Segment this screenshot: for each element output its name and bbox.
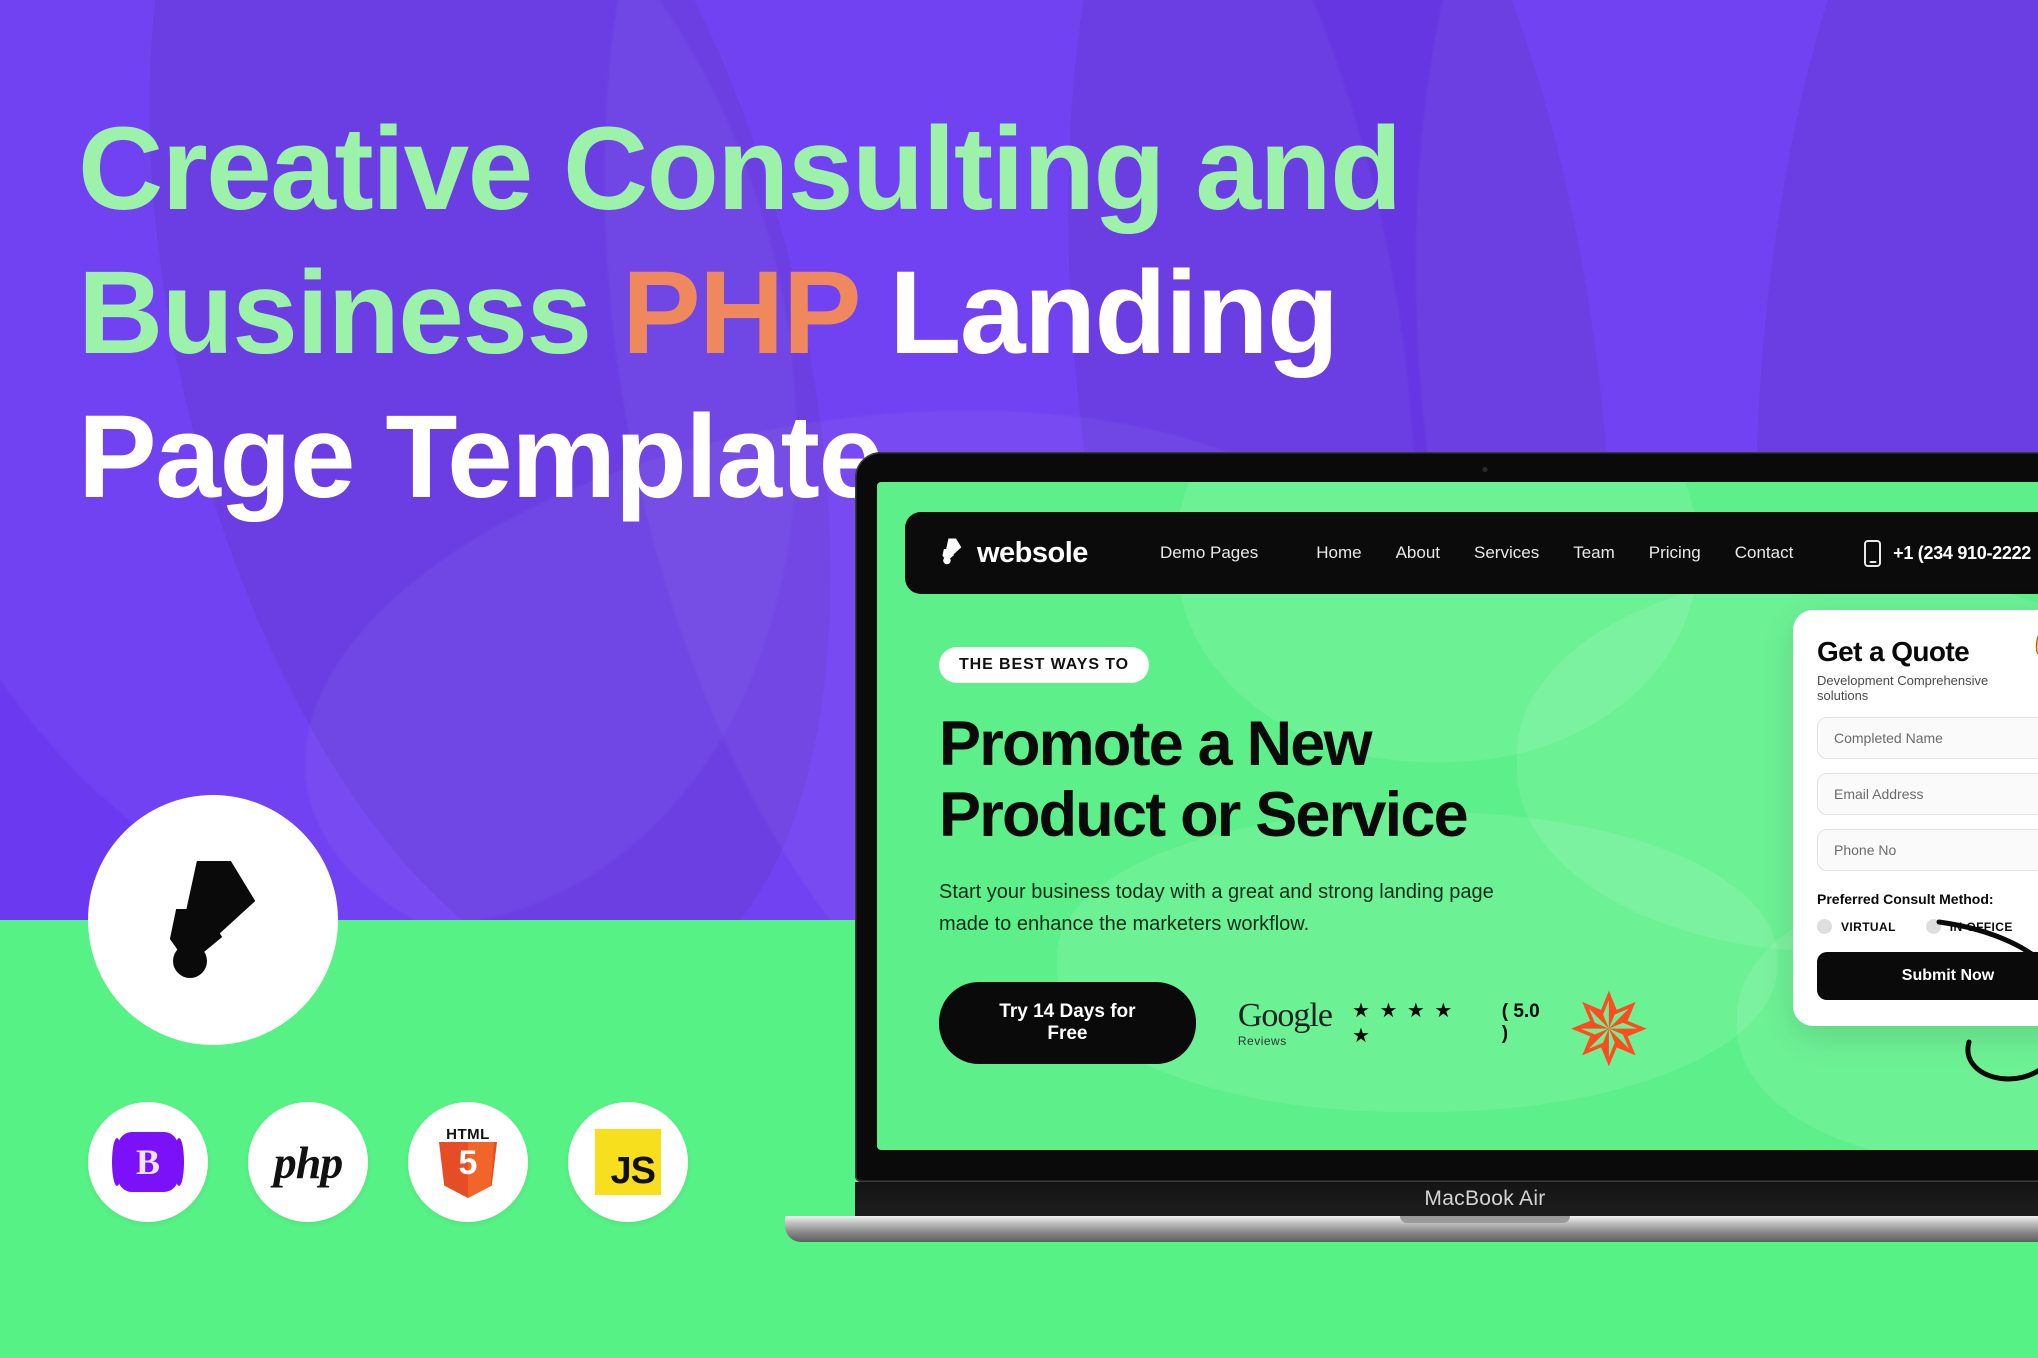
laptop-base (785, 1216, 2038, 1242)
laptop-chin-label: MacBook Air (855, 1182, 2038, 1216)
html5-shield: 5 (439, 1142, 497, 1198)
site-logo[interactable]: websole (939, 536, 1088, 571)
hero-title-line-2: Product or Service (939, 780, 1549, 851)
site-nav-links: Home About Services Team Pricing Contact (1316, 543, 1793, 563)
quote-card-subtitle: Development Comprehensive solutions (1817, 673, 2027, 703)
completed-name-input[interactable]: Completed Name (1817, 717, 2038, 759)
site-hero: THE BEST WAYS TO Promote a New Product o… (939, 647, 1549, 1064)
nav-item-home[interactable]: Home (1316, 543, 1361, 563)
nav-item-contact[interactable]: Contact (1735, 543, 1794, 563)
hero-title-line-1: Promote a New (939, 709, 1549, 780)
hero-cta-row: Try 14 Days for Free Google Reviews ★ ★ … (939, 982, 1549, 1064)
hero-title: Promote a New Product or Service (939, 709, 1549, 850)
javascript-icon: JS (595, 1129, 661, 1195)
headline-line-2: Business PHP Landing (78, 242, 1278, 386)
consult-method-label: Preferred Consult Method: (1817, 891, 2038, 907)
google-reviews-label: Reviews (1238, 1035, 1332, 1047)
star-rating-icon: ★ ★ ★ ★ ★ (1352, 998, 1476, 1048)
phone-no-input[interactable]: Phone No (1817, 829, 2038, 871)
nav-item-demo-pages[interactable]: Demo Pages (1160, 543, 1258, 563)
orange-starburst-icon: ✵ (1567, 994, 1641, 1068)
google-wordmark: Google (1238, 999, 1332, 1033)
headline-segment: Page Template (78, 391, 883, 523)
nav-phone-number: +1 (234 910-2222 (1893, 543, 2031, 564)
pointing-down-hand-icon: 👇 (2027, 630, 2038, 672)
hero-description: Start your business today with a great a… (939, 876, 1509, 940)
tech-badge-javascript[interactable]: JS (568, 1102, 688, 1222)
tech-badge-html5[interactable]: HTML 5 (408, 1102, 528, 1222)
try-free-button[interactable]: Try 14 Days for Free (939, 982, 1196, 1064)
macbook-air-label: MacBook Air (1424, 1187, 1545, 1211)
quote-card-title: Get a Quote (1817, 636, 2027, 668)
radio-virtual-label: VIRTUAL (1841, 920, 1896, 934)
radio-dot-icon (1817, 919, 1832, 934)
webcam-icon (1483, 467, 1488, 472)
brand-logo-badge (88, 795, 338, 1045)
headline-segment: Business (78, 247, 622, 379)
tech-badge-bootstrap[interactable]: B (88, 1102, 208, 1222)
headline-line-1: Creative Consulting and (78, 98, 1278, 242)
site-navbar: websole Demo Pages Home About Services T… (905, 512, 2038, 594)
bootstrap-icon: B (118, 1132, 178, 1192)
email-address-input[interactable]: Email Address (1817, 773, 2038, 815)
laptop-mockup: websole Demo Pages Home About Services T… (855, 452, 2038, 1242)
html5-icon: HTML 5 (437, 1126, 499, 1198)
html5-wordmark: HTML (437, 1126, 499, 1143)
site-logo-text: websole (977, 537, 1088, 570)
html5-digit: 5 (459, 1142, 478, 1185)
nav-phone-block[interactable]: +1 (234 910-2222 (1864, 540, 2031, 567)
laptop-lid: websole Demo Pages Home About Services T… (855, 452, 2038, 1182)
google-logo: Google Reviews (1238, 999, 1332, 1047)
nav-item-services[interactable]: Services (1474, 543, 1539, 563)
nav-item-team[interactable]: Team (1573, 543, 1615, 563)
rating-score: ( 5.0 ) (1502, 1001, 1549, 1045)
curved-line-decoration-icon (1929, 912, 2038, 1092)
laptop-screen: websole Demo Pages Home About Services T… (877, 482, 2038, 1150)
mobile-phone-icon (1864, 540, 1881, 567)
headline-segment: Creative Consulting and (78, 103, 1401, 235)
php-icon: php (274, 1136, 343, 1189)
headline-segment-php: PHP (622, 247, 858, 379)
headline-segment: Landing (858, 247, 1338, 379)
google-reviews-block: Google Reviews ★ ★ ★ ★ ★ ( 5.0 ) (1238, 998, 1549, 1048)
nav-item-pricing[interactable]: Pricing (1649, 543, 1701, 563)
websole-slash-logo-icon (939, 536, 965, 571)
quote-card-header: Get a Quote Development Comprehensive so… (1817, 636, 2038, 703)
hero-eyebrow-badge: THE BEST WAYS TO (939, 647, 1149, 683)
websole-slash-logo-icon (154, 853, 272, 988)
radio-virtual[interactable]: VIRTUAL (1817, 919, 1896, 934)
tech-stack-badges: B php HTML 5 JS (88, 1102, 688, 1222)
promo-banner: Creative Consulting and Business PHP Lan… (0, 0, 2038, 1358)
nav-item-about[interactable]: About (1396, 543, 1440, 563)
tech-badge-php[interactable]: php (248, 1102, 368, 1222)
get-a-quote-card: Get a Quote Development Comprehensive so… (1793, 610, 2038, 1026)
